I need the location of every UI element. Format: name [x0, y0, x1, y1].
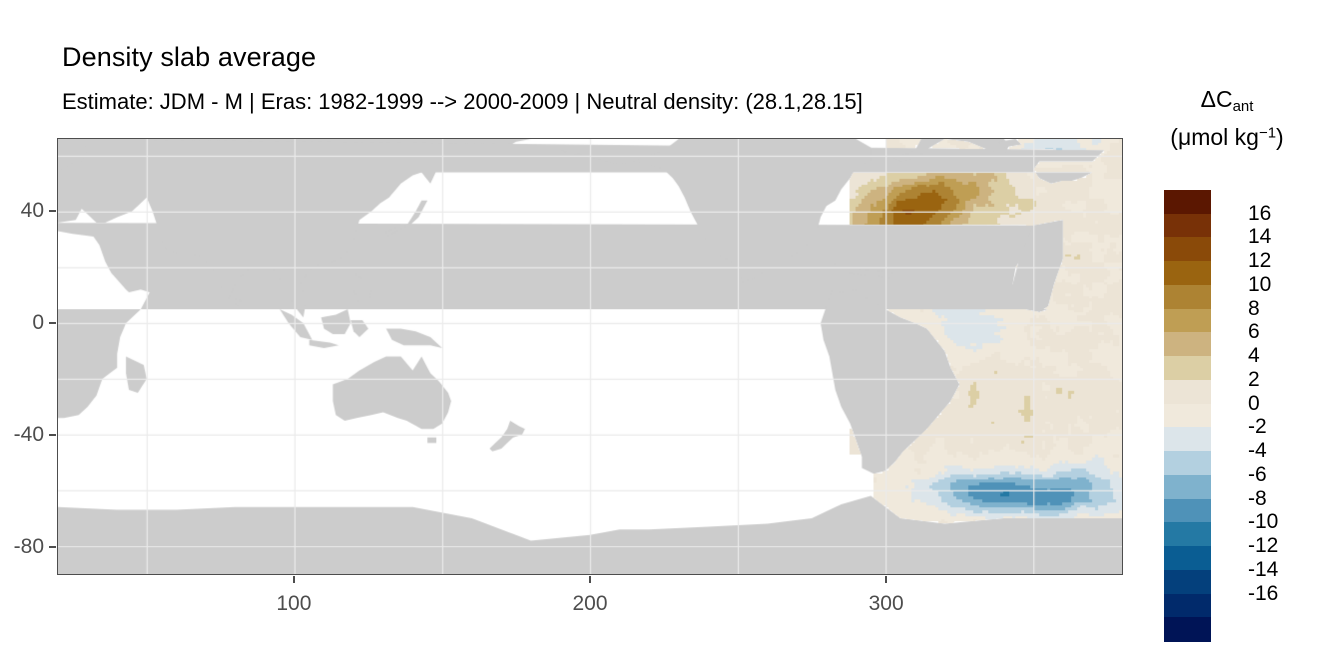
colorbar-block — [1164, 214, 1211, 238]
colorbar-block — [1164, 261, 1211, 285]
colorbar-block — [1164, 522, 1211, 546]
legend-units-prefix: (μmol kg — [1170, 124, 1259, 150]
colorbar-tick-label: -6 — [1248, 463, 1308, 487]
y-axis-tick-mark — [49, 322, 56, 324]
colorbar-block — [1164, 285, 1211, 309]
y-axis-tick-mark — [49, 546, 56, 548]
colorbar-tick-label: -10 — [1248, 510, 1308, 534]
colorbar-block — [1164, 594, 1211, 618]
colorbar-tick-label: -14 — [1248, 558, 1308, 582]
colorbar-block — [1164, 546, 1211, 570]
map-canvas — [58, 139, 1122, 574]
legend-subscript-ant: ant — [1233, 98, 1254, 115]
colorbar-block — [1164, 570, 1211, 594]
figure-root: Density slab average Estimate: JDM - M |… — [0, 0, 1344, 672]
y-axis-tick-label: 0 — [0, 311, 44, 335]
colorbar-tick-label: 2 — [1248, 368, 1308, 392]
colorbar-tick-label: -8 — [1248, 487, 1308, 511]
colorbar-tick-label: -16 — [1248, 582, 1308, 606]
colorbar-block — [1164, 356, 1211, 380]
colorbar-block — [1164, 237, 1211, 261]
colorbar: 1614121086420-2-4-6-8-10-12-14-16 — [1164, 190, 1211, 641]
y-axis-tick-mark — [49, 434, 56, 436]
x-axis-tick-label: 100 — [276, 592, 311, 616]
map-panel — [57, 138, 1123, 575]
colorbar-block — [1164, 427, 1211, 451]
colorbar-tick-label: 6 — [1248, 320, 1308, 344]
colorbar-block — [1164, 332, 1211, 356]
colorbar-block — [1164, 499, 1211, 523]
colorbar-tick-label: -2 — [1248, 415, 1308, 439]
colorbar-tick-label: 4 — [1248, 344, 1308, 368]
colorbar-block — [1164, 190, 1211, 214]
legend-delta-c: ΔC — [1201, 86, 1233, 112]
colorbar-block — [1164, 475, 1211, 499]
colorbar-tick-label: -4 — [1248, 439, 1308, 463]
colorbar-block — [1164, 380, 1211, 404]
colorbar-block — [1164, 309, 1211, 333]
colorbar-tick-label: 16 — [1248, 202, 1308, 226]
colorbar-tick-label: 10 — [1248, 273, 1308, 297]
legend-units-exponent: −1 — [1259, 125, 1276, 142]
x-axis-tick-label: 300 — [869, 592, 904, 616]
colorbar-tick-label: 12 — [1248, 249, 1308, 273]
legend-title-primary: ΔCant — [1134, 86, 1320, 115]
page-title: Density slab average — [62, 42, 316, 73]
colorbar-block — [1164, 404, 1211, 428]
y-axis-tick-label: 40 — [0, 199, 44, 223]
page-subtitle: Estimate: JDM - M | Eras: 1982-1999 --> … — [62, 89, 863, 115]
x-axis-tick-mark — [885, 576, 887, 583]
legend-units-suffix: ) — [1276, 124, 1284, 150]
legend-title-units: (μmol kg−1) — [1134, 124, 1320, 151]
x-axis-tick-label: 200 — [572, 592, 607, 616]
y-axis-tick-mark — [49, 210, 56, 212]
colorbar-tick-label: 8 — [1248, 297, 1308, 321]
colorbar-block — [1164, 451, 1211, 475]
y-axis-tick-label: -80 — [0, 535, 44, 559]
colorbar-tick-label: 14 — [1248, 225, 1308, 249]
x-axis-tick-mark — [589, 576, 591, 583]
x-axis-tick-mark — [293, 576, 295, 583]
colorbar-tick-label: -12 — [1248, 534, 1308, 558]
y-axis-tick-label: -40 — [0, 423, 44, 447]
colorbar-block — [1164, 617, 1211, 641]
colorbar-legend: ΔCant (μmol kg−1) 1614121086420-2-4-6-8-… — [1134, 82, 1334, 652]
colorbar-tick-label: 0 — [1248, 392, 1308, 416]
